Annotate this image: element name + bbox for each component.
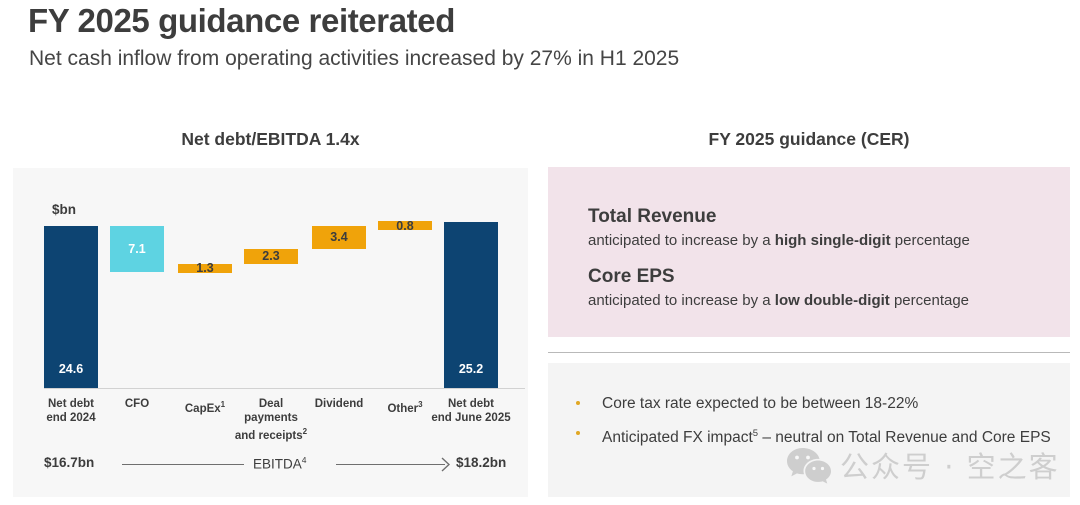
bar-6: 25.2 bbox=[444, 222, 498, 388]
bullet-dot-icon bbox=[576, 401, 580, 405]
list-item: Core tax rate expected to be between 18-… bbox=[572, 393, 1060, 414]
guidance-item-1-text-before: anticipated to increase by a bbox=[588, 292, 775, 309]
guidance-panel: Total Revenue anticipated to increase by… bbox=[548, 167, 1070, 337]
bar-2-value-label: 1.3 bbox=[178, 261, 232, 275]
footer-start-value: $16.7bn bbox=[44, 455, 94, 470]
arrow-right-icon bbox=[441, 457, 450, 472]
bullet-dot-icon bbox=[576, 431, 580, 435]
footer-rule-right bbox=[336, 464, 445, 465]
guidance-item-1-title: Core EPS bbox=[588, 266, 675, 288]
section-divider bbox=[548, 352, 1070, 353]
guidance-item-0-text-bold: high single-digit bbox=[775, 232, 891, 249]
note-0-text: Core tax rate expected to be between 18-… bbox=[602, 395, 918, 412]
guidance-item-0-text: anticipated to increase by a high single… bbox=[588, 232, 970, 249]
guidance-heading: FY 2025 guidance (CER) bbox=[548, 129, 1070, 150]
guidance-item-0-text-before: anticipated to increase by a bbox=[588, 232, 775, 249]
guidance-item-0-text-after: percentage bbox=[891, 232, 970, 249]
category-label-6: Net debtend June 2025 bbox=[417, 398, 525, 425]
note-1-text-pre: Anticipated FX impact bbox=[602, 429, 753, 446]
footer-ebitda-text: EBITDA bbox=[253, 457, 302, 472]
bar-5: 0.8 bbox=[378, 221, 432, 230]
bar-4-value-label: 3.4 bbox=[312, 230, 366, 244]
notes-panel: Core tax rate expected to be between 18-… bbox=[548, 363, 1070, 497]
chart-axis-line bbox=[44, 388, 525, 389]
footer-ebitda-label: EBITDA4 bbox=[253, 455, 307, 472]
bar-3: 2.3 bbox=[244, 249, 298, 264]
bar-4: 3.4 bbox=[312, 226, 366, 248]
category-label-4: Dividend bbox=[299, 398, 379, 412]
waterfall-plot: 24.67.11.32.33.40.825.2 bbox=[13, 168, 528, 497]
footer-end-value: $18.2bn bbox=[456, 455, 506, 470]
guidance-item-1-text-after: percentage bbox=[890, 292, 969, 309]
footer-ebitda-sup: 4 bbox=[302, 455, 307, 465]
bar-2: 1.3 bbox=[178, 264, 232, 273]
bar-5-value-label: 0.8 bbox=[378, 219, 432, 233]
axis-unit-label: $bn bbox=[52, 202, 76, 217]
footer-rule-left bbox=[122, 464, 244, 465]
guidance-item-1-text: anticipated to increase by a low double-… bbox=[588, 292, 969, 309]
list-item: Anticipated FX impact5 – neutral on Tota… bbox=[572, 423, 1060, 448]
category-label-1: CFO bbox=[102, 398, 172, 412]
chart-footer-row: $16.7bn EBITDA4 $18.2bn bbox=[13, 455, 528, 481]
bar-3-value-label: 2.3 bbox=[244, 249, 298, 263]
bar-1: 7.1 bbox=[110, 226, 164, 273]
note-1-text-post: – neutral on Total Revenue and Core EPS bbox=[758, 429, 1051, 446]
bar-1-value-label: 7.1 bbox=[110, 242, 164, 256]
bar-0-value-label: 24.6 bbox=[44, 362, 98, 376]
guidance-item-1-text-bold: low double-digit bbox=[775, 292, 890, 309]
page-subtitle: Net cash inflow from operating activitie… bbox=[29, 47, 679, 71]
chart-heading: Net debt/EBITDA 1.4x bbox=[13, 129, 528, 150]
guidance-item-0-title: Total Revenue bbox=[588, 206, 716, 228]
bar-0: 24.6 bbox=[44, 226, 98, 388]
notes-bullet-list: Core tax rate expected to be between 18-… bbox=[572, 393, 1060, 457]
waterfall-chart-panel: 24.67.11.32.33.40.825.2 bbox=[13, 168, 528, 497]
page-title: FY 2025 guidance reiterated bbox=[28, 2, 455, 40]
bar-6-value-label: 25.2 bbox=[444, 362, 498, 376]
